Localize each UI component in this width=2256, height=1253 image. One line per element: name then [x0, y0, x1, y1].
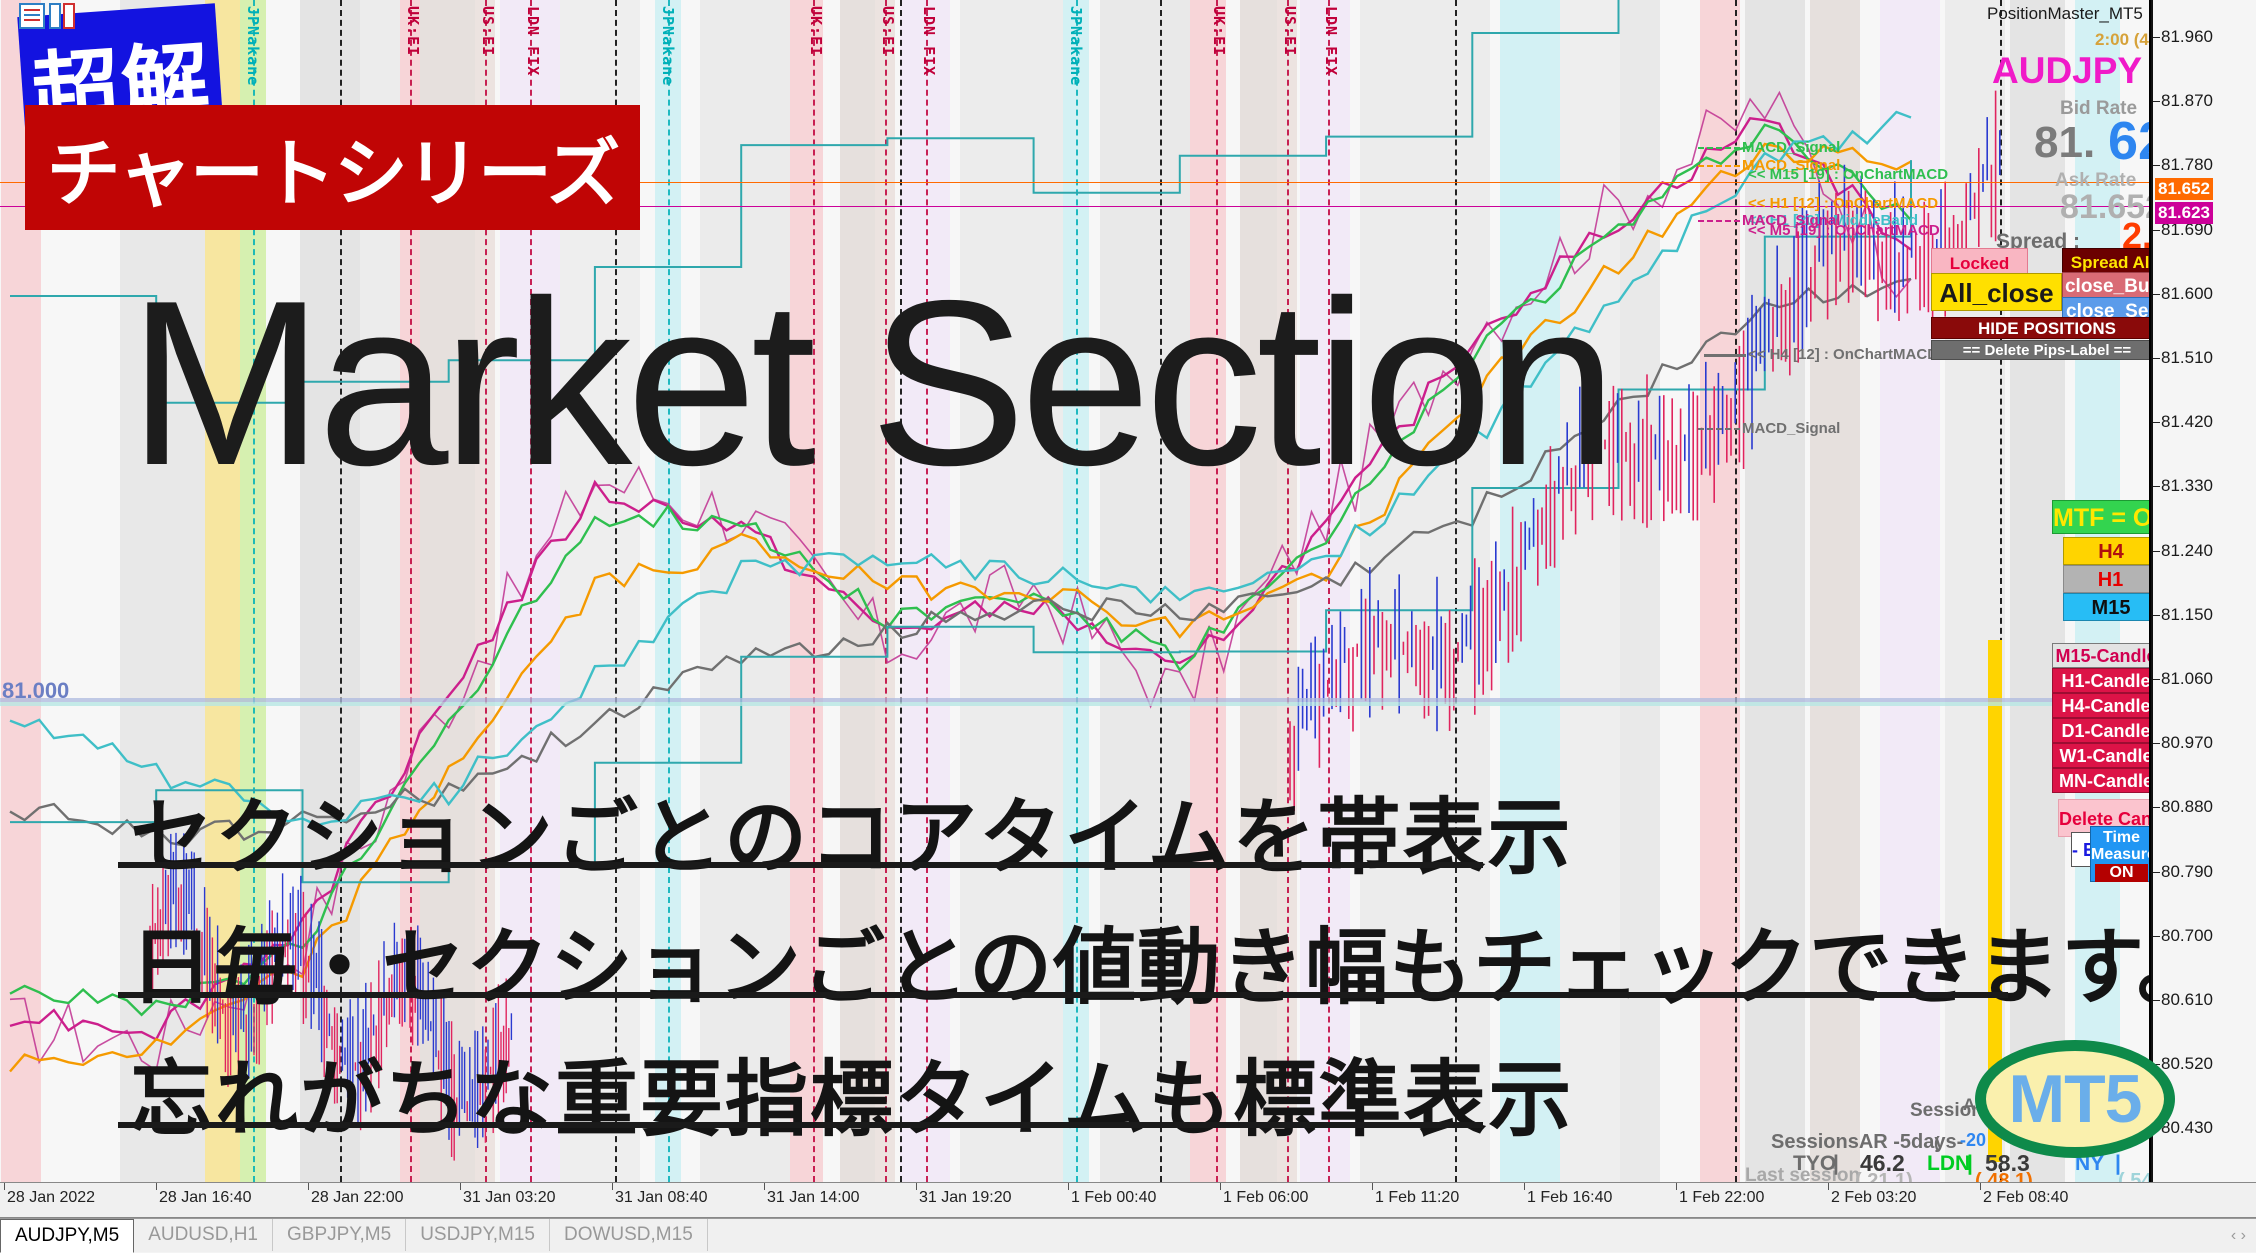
- chart-tab[interactable]: USDJPY,M15: [406, 1219, 550, 1251]
- overlay-line-1: セクションごとのコアタイムを帯表示: [130, 770, 1573, 890]
- price-tick-label: 81.780: [2161, 155, 2213, 175]
- panel-button-candle-d1[interactable]: D1-Candle: [2052, 718, 2151, 743]
- time-tick-label: 1 Feb 11:20: [1375, 1189, 1459, 1207]
- price-tick-mark: [2153, 358, 2160, 359]
- price-tick-label: 81.150: [2161, 605, 2213, 625]
- bid-rate-fraction: 623: [2108, 110, 2151, 172]
- time-tick-mark: [612, 1183, 613, 1190]
- time-tick-mark: [4, 1183, 5, 1190]
- time-tick-label: 28 Jan 22:00: [311, 1189, 404, 1207]
- panel-button-candle-h1[interactable]: H1-Candle: [2052, 668, 2151, 693]
- price-tick-mark: [2153, 615, 2160, 616]
- overlay-rule-1: [118, 862, 1483, 868]
- time-tick-label: 1 Feb 22:00: [1679, 1189, 1764, 1207]
- tab-scroll-arrows[interactable]: ‹ ›: [2231, 1227, 2246, 1245]
- mt5-badge-text: MT5: [2009, 1060, 2142, 1138]
- bid-rate-whole: 81.: [2034, 118, 2095, 168]
- bar-timer: 2:00 (40%): [2095, 30, 2151, 50]
- time-axis[interactable]: 28 Jan 202228 Jan 16:4028 Jan 22:0031 Ja…: [0, 1182, 2256, 1218]
- price-tick-mark: [2153, 743, 2160, 744]
- price-axis[interactable]: 81.96081.87081.78081.69081.60081.51081.4…: [2151, 0, 2256, 1182]
- panel-button-candle-h4[interactable]: H4-Candle: [2052, 693, 2151, 718]
- macd-legend-label: << H4 [12] : OnChartMACD: [1748, 346, 1938, 363]
- panel-button-hide-positions[interactable]: HIDE POSITIONS: [1931, 317, 2151, 339]
- panel-button-mtf-toggle[interactable]: MTF = OFF: [2052, 500, 2151, 534]
- panel-button-candle-w1[interactable]: W1-Candle: [2052, 743, 2151, 768]
- price-tick-mark: [2153, 294, 2160, 295]
- overlay-line-2: 日毎・セクションごとの値動き幅もチェックできます。: [130, 900, 2151, 1020]
- sessions-ar-range-value: -20: [1960, 1130, 1986, 1151]
- time-tick-mark: [916, 1183, 917, 1190]
- level-label-left: 81.000: [2, 678, 69, 704]
- price-tick-label: 81.600: [2161, 284, 2213, 304]
- time-tick-mark: [1068, 1183, 1069, 1190]
- time-tick-mark: [156, 1183, 157, 1190]
- time-tick-mark: [1676, 1183, 1677, 1190]
- panel-button-candle-mn[interactable]: MN-Candle: [2052, 768, 2151, 793]
- time-measure-state[interactable]: ON: [2095, 864, 2148, 882]
- sessions-ar-row-last: ( 54.6): [2118, 1170, 2151, 1182]
- price-tick-label: 81.420: [2161, 412, 2213, 432]
- price-tick-label: 80.970: [2161, 733, 2213, 753]
- panel-button-tf-h1[interactable]: H1: [2063, 565, 2151, 593]
- price-tick-mark: [2153, 1000, 2160, 1001]
- time-tick-mark: [460, 1183, 461, 1190]
- sessions-ar-row-name: LDN: [1927, 1152, 1970, 1176]
- macd-legend-line: [1698, 147, 1740, 149]
- time-tick-mark: [308, 1183, 309, 1190]
- panel-button-tf-h4[interactable]: H4: [2063, 537, 2151, 565]
- price-tag: 81.623: [2155, 202, 2213, 224]
- indicator-name: PositionMaster_MT5: [1987, 4, 2143, 24]
- ribbon-chart-series: チャートシリーズ: [25, 105, 640, 230]
- price-tick-mark: [2153, 422, 2160, 423]
- sessions-ar-row-last: ( 21.1): [1855, 1170, 1913, 1182]
- time-tick-label: 31 Jan 08:40: [615, 1189, 708, 1207]
- price-tick-label: 80.520: [2161, 1054, 2213, 1074]
- chart-tab-bar[interactable]: AUDJPY,M5AUDUSD,H1GBPJPY,M5USDJPY,M15DOW…: [0, 1218, 2256, 1252]
- chart-tab[interactable]: AUDUSD,H1: [134, 1219, 273, 1251]
- price-tick-label: 80.430: [2161, 1118, 2213, 1138]
- metatrader-logo-icon: [18, 2, 80, 30]
- time-tick-label: 2 Feb 08:40: [1983, 1189, 2068, 1207]
- time-measure-label-2: Measure: [2091, 846, 2151, 863]
- price-tick-label: 81.960: [2161, 27, 2213, 47]
- time-tick-label: 28 Jan 2022: [7, 1189, 95, 1207]
- time-tick-label: 31 Jan 19:20: [919, 1189, 1012, 1207]
- time-tick-label: 2 Feb 03:20: [1831, 1189, 1916, 1207]
- time-tick-label: 1 Feb 00:40: [1071, 1189, 1156, 1207]
- panel-button-time-measure[interactable]: TimeMeasureON: [2090, 826, 2151, 882]
- time-tick-label: 31 Jan 14:00: [767, 1189, 860, 1207]
- time-tick-mark: [1220, 1183, 1221, 1190]
- time-tick-mark: [1524, 1183, 1525, 1190]
- mt5-terminal-window: JPNakaneUK:EIUS:EILDN FIXJPNakaneUK:EIUS…: [0, 0, 2256, 1252]
- macd-legend-label: << H1 [12] : OnChartMACD: [1748, 195, 1938, 212]
- price-tick-label: 81.510: [2161, 348, 2213, 368]
- macd-legend-label: MACD_Signal: [1742, 139, 1840, 156]
- ribbon-text: チャートシリーズ: [47, 114, 619, 221]
- price-tick-mark: [2153, 551, 2160, 552]
- price-tick-label: 81.240: [2161, 541, 2213, 561]
- macd-legend-label: << M15 [19] : OnChartMACD: [1748, 166, 1948, 183]
- chart-canvas[interactable]: JPNakaneUK:EIUS:EILDN FIXJPNakaneUK:EIUS…: [0, 0, 2151, 1182]
- macd-legend-line: [1698, 165, 1740, 167]
- time-tick-label: 1 Feb 06:00: [1223, 1189, 1308, 1207]
- chart-tab[interactable]: AUDJPY,M5: [0, 1219, 134, 1253]
- time-tick-mark: [1980, 1183, 1981, 1190]
- overlay-rule-3: [118, 1122, 1483, 1128]
- price-tick-mark: [2153, 872, 2160, 873]
- sessions-ar-row-sep: |: [1967, 1152, 1973, 1176]
- price-tick-label: 80.880: [2161, 797, 2213, 817]
- chart-tab[interactable]: GBPJPY,M5: [273, 1219, 406, 1251]
- price-tick-label: 80.700: [2161, 926, 2213, 946]
- price-tick-mark: [2153, 936, 2160, 937]
- price-tick-mark: [2153, 230, 2160, 231]
- time-measure-label-1: Time: [2091, 827, 2151, 846]
- panel-button-tf-m15[interactable]: M15: [2063, 593, 2151, 621]
- panel-button-candle-m15[interactable]: M15-Candle: [2052, 643, 2151, 668]
- price-tick-label: 81.330: [2161, 476, 2213, 496]
- price-tick-label: 80.610: [2161, 990, 2213, 1010]
- macd-legend-line: [1704, 354, 1746, 357]
- chart-tab[interactable]: DOWUSD,M15: [550, 1219, 708, 1251]
- macd-legend-label: MACD_Signal: [1742, 420, 1840, 437]
- panel-button-all-close[interactable]: All_close: [1931, 273, 2062, 311]
- overlay-rule-2: [118, 992, 2008, 998]
- macd-legend-line: [1698, 428, 1740, 430]
- time-tick-label: 31 Jan 03:20: [463, 1189, 556, 1207]
- price-tick-mark: [2153, 101, 2160, 102]
- price-tick-mark: [2153, 165, 2160, 166]
- time-tick-label: 1 Feb 16:40: [1527, 1189, 1612, 1207]
- price-tick-label: 81.870: [2161, 91, 2213, 111]
- overlay-title: Market Section: [128, 265, 1611, 500]
- panel-button-close-buy[interactable]: close_Buy: [2062, 272, 2151, 299]
- price-tick-mark: [2153, 486, 2160, 487]
- panel-button-delete-pips-label[interactable]: == Delete Pips-Label ==: [1931, 340, 2151, 360]
- sessions-ar-paren: (: [1934, 1133, 1940, 1153]
- time-tick-mark: [1828, 1183, 1829, 1190]
- macd-legend-label: << M5 [19] : OnChartMACD: [1748, 222, 1940, 239]
- overlay-line-3: 忘れがちな重要指標タイムも標準表示: [130, 1032, 1573, 1152]
- price-tick-mark: [2153, 807, 2160, 808]
- sessions-ar-row-last: ( 48.1): [1975, 1170, 2033, 1182]
- price-tick-label: 80.790: [2161, 862, 2213, 882]
- level-line-81000-shadow: [0, 702, 2149, 706]
- sessions-ar-row-sep: |: [1833, 1152, 1839, 1176]
- symbol-title: AUDJPY (M5): [1992, 50, 2151, 92]
- time-tick-mark: [1372, 1183, 1373, 1190]
- price-tick-mark: [2153, 679, 2160, 680]
- price-tag: 81.652: [2155, 178, 2213, 200]
- price-tick-mark: [2153, 37, 2160, 38]
- sessions-ar-row-name: TYO: [1793, 1152, 1836, 1176]
- mt5-badge: MT5: [1975, 1040, 2175, 1158]
- price-tick-label: 81.060: [2161, 669, 2213, 689]
- macd-legend-line: [1698, 220, 1740, 222]
- time-tick-mark: [764, 1183, 765, 1190]
- time-tick-label: 28 Jan 16:40: [159, 1189, 252, 1207]
